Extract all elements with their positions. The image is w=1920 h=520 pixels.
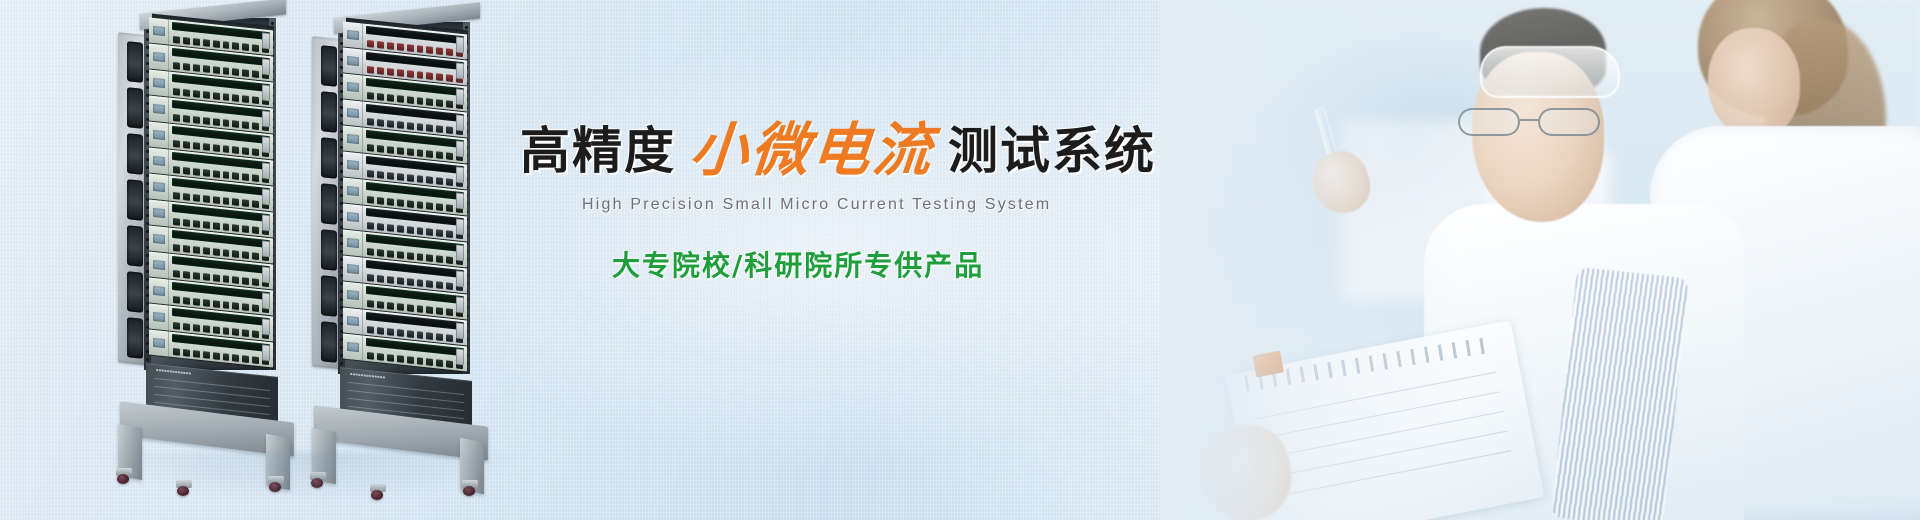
module-button — [203, 351, 210, 359]
module-button — [213, 92, 220, 100]
module-button — [367, 196, 374, 204]
module-button — [377, 67, 384, 75]
module-display — [347, 186, 359, 196]
module-button — [242, 199, 249, 207]
module-button — [377, 301, 384, 309]
module-button — [193, 194, 200, 202]
module-left-face — [149, 121, 169, 148]
module-left-face — [149, 329, 169, 356]
module-button — [387, 198, 394, 206]
module-button — [223, 353, 230, 361]
module-button — [193, 298, 200, 306]
module-display — [347, 134, 359, 144]
module-button — [232, 302, 239, 310]
module-left-face — [149, 251, 169, 278]
module-terminal — [456, 114, 464, 131]
headline-accent: 小微电流 — [687, 121, 936, 179]
module-button — [173, 88, 180, 96]
module-button — [397, 303, 404, 311]
module-terminal — [262, 344, 270, 361]
module-terminal — [262, 188, 270, 205]
module-button — [213, 222, 220, 230]
module-button — [183, 245, 190, 253]
module-button — [232, 198, 239, 206]
module-button — [367, 300, 374, 308]
module-terminal — [262, 32, 270, 49]
module-button — [367, 352, 374, 360]
module-display — [347, 238, 359, 248]
module-terminal — [262, 110, 270, 127]
module-button — [407, 96, 414, 104]
module-button — [387, 328, 394, 336]
module-display — [347, 160, 359, 170]
wheel — [371, 490, 383, 500]
module-display — [153, 234, 165, 244]
module-button — [436, 359, 443, 367]
module-button — [193, 350, 200, 358]
module-button — [183, 167, 190, 175]
rack-base — [114, 406, 304, 496]
caster-wheel — [308, 472, 328, 488]
module-button — [426, 332, 433, 340]
module-terminal — [456, 244, 464, 261]
vent-slot — [127, 317, 143, 359]
module-button — [232, 172, 239, 180]
module-button — [223, 119, 230, 127]
module-left-face — [343, 203, 363, 230]
module-display — [347, 212, 359, 222]
module-button — [203, 143, 210, 151]
module-button — [367, 248, 374, 256]
module-button — [193, 272, 200, 280]
headline-suffix: 测试系统 — [948, 126, 1156, 176]
patch-panel-label: ■■■■■■■■■■■■■ — [156, 367, 191, 376]
module-left-face — [343, 151, 363, 178]
module-button — [203, 299, 210, 307]
module-button — [397, 43, 404, 51]
module-left-face — [343, 99, 363, 126]
product-banner: LAB 测试系统 I ■■■■■■■■■■■■■ — [0, 0, 1920, 520]
module-terminal — [262, 266, 270, 283]
module-button — [252, 278, 259, 286]
headline-prefix: 高精度 — [520, 126, 676, 176]
module-display — [347, 108, 359, 118]
module-button — [242, 147, 249, 155]
module-display — [153, 130, 165, 140]
module-button — [242, 121, 249, 129]
module-button — [417, 123, 424, 131]
module-button — [436, 99, 443, 107]
module-button — [377, 223, 384, 231]
module-button — [417, 201, 424, 209]
module-button — [397, 251, 404, 259]
module-button — [232, 328, 239, 336]
module-button — [193, 90, 200, 98]
rail-hole — [146, 358, 149, 361]
module-button — [252, 96, 259, 104]
rack-base — [308, 410, 498, 500]
wheel — [177, 486, 189, 496]
module-button — [387, 68, 394, 76]
module-button — [252, 330, 259, 338]
module-terminal — [456, 218, 464, 235]
module-button — [407, 356, 414, 364]
tagline-chinese: 大专院校/科研院所专供产品 — [520, 244, 1280, 284]
glasses-bridge — [1520, 119, 1538, 121]
module-button — [232, 94, 239, 102]
module-button — [407, 174, 414, 182]
module-button — [387, 42, 394, 50]
module-button — [203, 325, 210, 333]
module-display — [153, 156, 165, 166]
module-button — [407, 70, 414, 78]
module-button — [367, 118, 374, 126]
module-button — [203, 247, 210, 255]
vent-slot — [321, 275, 337, 317]
module-terminal — [456, 348, 464, 365]
module-button — [203, 117, 210, 125]
module-button — [426, 124, 433, 132]
module-display — [347, 56, 359, 66]
module-button — [183, 271, 190, 279]
banner-copy: 高精度 小微电流 测试系统 High Precision Small Micro… — [520, 118, 1280, 284]
rail-hole — [271, 22, 274, 25]
module-left-face — [149, 225, 169, 252]
module-button — [426, 202, 433, 210]
module-button — [417, 279, 424, 287]
vent-slot — [321, 137, 337, 179]
module-terminal — [456, 88, 464, 105]
module-terminal — [456, 36, 464, 53]
module-button — [387, 146, 394, 154]
module-display — [347, 290, 359, 300]
module-button — [367, 92, 374, 100]
rail-hole — [465, 26, 468, 29]
module-button — [183, 349, 190, 357]
module-button — [367, 40, 374, 48]
module-button — [377, 327, 384, 335]
module-button — [387, 120, 394, 128]
module-button — [377, 275, 384, 283]
module-terminal — [262, 240, 270, 257]
module-button — [426, 254, 433, 262]
eyeglasses-icon — [1458, 108, 1618, 138]
module-button — [223, 223, 230, 231]
module-left-face — [149, 303, 169, 330]
module-left-face — [343, 255, 363, 282]
module-button — [242, 251, 249, 259]
module-button — [193, 142, 200, 150]
module-button — [446, 334, 453, 342]
safety-goggles-icon — [1480, 46, 1620, 98]
module-button — [173, 270, 180, 278]
vent-slot — [127, 133, 143, 175]
module-button — [252, 226, 259, 234]
module-button — [252, 356, 259, 364]
module-button — [252, 252, 259, 260]
module-display — [347, 316, 359, 326]
module-button — [377, 119, 384, 127]
module-button — [252, 200, 259, 208]
module-terminal — [456, 322, 464, 339]
module-button — [203, 273, 210, 281]
module-button — [426, 306, 433, 314]
module-button — [173, 348, 180, 356]
vent-slot — [127, 87, 143, 129]
module-left-face — [149, 17, 169, 44]
module-button — [407, 44, 414, 52]
module-button — [417, 175, 424, 183]
module-terminal — [262, 84, 270, 101]
module-button — [203, 39, 210, 47]
module-display — [153, 52, 165, 62]
module-button — [367, 326, 374, 334]
module-button — [203, 91, 210, 99]
module-button — [436, 203, 443, 211]
module-button — [223, 301, 230, 309]
module-left-face — [343, 177, 363, 204]
module-button — [446, 204, 453, 212]
caster-wheel — [460, 480, 480, 496]
module-button — [203, 195, 210, 203]
module-button — [223, 275, 230, 283]
module-button — [426, 46, 433, 54]
module-button — [446, 152, 453, 160]
module-button — [183, 219, 190, 227]
module-display — [347, 342, 359, 352]
module-button — [397, 69, 404, 77]
module-button — [203, 221, 210, 229]
headline: 高精度 小微电流 测试系统 — [520, 118, 1280, 176]
module-left-face — [343, 21, 363, 48]
module-button — [377, 197, 384, 205]
module-display — [153, 208, 165, 218]
vent-slot — [127, 225, 143, 267]
module-display — [347, 264, 359, 274]
module-left-face — [149, 199, 169, 226]
module-left-face — [149, 277, 169, 304]
module-button — [193, 64, 200, 72]
module-left-face — [343, 229, 363, 256]
module-left-face — [149, 147, 169, 174]
module-terminal — [262, 214, 270, 231]
wheel — [463, 486, 475, 496]
module-button — [213, 300, 220, 308]
module-button — [407, 252, 414, 260]
module-button — [446, 360, 453, 368]
module-button — [183, 37, 190, 45]
module-button — [407, 148, 414, 156]
module-display — [347, 82, 359, 92]
module-display — [153, 260, 165, 270]
module-button — [367, 274, 374, 282]
caster-wheel — [114, 468, 134, 484]
module-display — [153, 78, 165, 88]
module-button — [213, 144, 220, 152]
module-button — [387, 94, 394, 102]
module-button — [242, 277, 249, 285]
module-button — [242, 225, 249, 233]
module-button — [417, 305, 424, 313]
vent-slot — [127, 271, 143, 313]
module-button — [193, 324, 200, 332]
module-button — [446, 48, 453, 56]
module-button — [397, 355, 404, 363]
module-button — [173, 192, 180, 200]
module-button — [446, 230, 453, 238]
module-button — [183, 89, 190, 97]
module-button — [223, 327, 230, 335]
module-button — [232, 146, 239, 154]
module-button — [417, 357, 424, 365]
module-button — [397, 277, 404, 285]
module-display — [153, 286, 165, 296]
module-button — [387, 354, 394, 362]
module-button — [407, 330, 414, 338]
module-button — [407, 278, 414, 286]
module-terminal — [456, 166, 464, 183]
module-button — [213, 326, 220, 334]
module-button — [436, 255, 443, 263]
module-button — [397, 95, 404, 103]
module-button — [387, 224, 394, 232]
module-button — [193, 38, 200, 46]
module-button — [223, 197, 230, 205]
module-button — [407, 122, 414, 130]
module-button — [377, 171, 384, 179]
module-button — [232, 276, 239, 284]
module-terminal — [262, 292, 270, 309]
module-button — [367, 144, 374, 152]
patch-panel-label: ■■■■■■■■■■■■■ — [350, 371, 385, 380]
module-button — [242, 69, 249, 77]
module-button — [213, 118, 220, 126]
module-terminal — [262, 162, 270, 179]
module-button — [242, 329, 249, 337]
module-button — [417, 253, 424, 261]
lens-left — [1458, 108, 1520, 136]
vent-slot — [127, 41, 143, 83]
module-button — [242, 173, 249, 181]
module-button — [223, 93, 230, 101]
module-button — [436, 281, 443, 289]
module-button — [173, 140, 180, 148]
module-left-face — [343, 73, 363, 100]
module-button — [377, 93, 384, 101]
module-button — [426, 358, 433, 366]
module-display — [153, 26, 165, 36]
module-terminal — [456, 192, 464, 209]
module-button — [426, 72, 433, 80]
module-terminal — [456, 140, 464, 157]
module-button — [417, 45, 424, 53]
module-button — [252, 122, 259, 130]
wheel — [311, 478, 323, 488]
module-left-face — [149, 173, 169, 200]
module-button — [232, 42, 239, 50]
module-button — [387, 302, 394, 310]
module-button — [232, 354, 239, 362]
caster-wheel — [266, 476, 286, 492]
module-button — [397, 329, 404, 337]
caster-wheel — [368, 484, 388, 500]
module-left-face — [149, 43, 169, 70]
module-button — [377, 249, 384, 257]
module-button — [426, 176, 433, 184]
vent-slot — [321, 91, 337, 133]
module-button — [436, 229, 443, 237]
module-button — [426, 280, 433, 288]
module-button — [173, 114, 180, 122]
caster-wheel — [174, 480, 194, 496]
module-button — [223, 249, 230, 257]
module-display — [153, 104, 165, 114]
module-left-face — [343, 333, 363, 360]
module-button — [397, 199, 404, 207]
module-button — [242, 95, 249, 103]
module-button — [183, 63, 190, 71]
module-button — [397, 173, 404, 181]
module-button — [377, 353, 384, 361]
module-button — [387, 250, 394, 258]
module-button — [252, 174, 259, 182]
module-button — [397, 147, 404, 155]
cable-track — [348, 382, 464, 395]
module-button — [426, 150, 433, 158]
vent-slot — [321, 229, 337, 271]
module-button — [252, 304, 259, 312]
module-button — [446, 178, 453, 186]
module-terminal — [456, 62, 464, 79]
module-button — [203, 169, 210, 177]
module-terminal — [262, 58, 270, 75]
module-button — [446, 126, 453, 134]
module-left-face — [149, 69, 169, 96]
module-button — [397, 121, 404, 129]
module-button — [387, 172, 394, 180]
module-button — [436, 125, 443, 133]
module-terminal — [262, 136, 270, 153]
vent-slot — [321, 183, 337, 225]
rail-hole — [340, 362, 343, 365]
module-button — [426, 228, 433, 236]
module-button — [183, 297, 190, 305]
module-button — [367, 170, 374, 178]
module-button — [193, 116, 200, 124]
module-button — [436, 151, 443, 159]
module-button — [417, 71, 424, 79]
module-button — [183, 193, 190, 201]
module-left-face — [343, 47, 363, 74]
module-display — [153, 338, 165, 348]
module-left-face — [343, 307, 363, 334]
module-button — [232, 250, 239, 258]
module-button — [183, 141, 190, 149]
module-button — [223, 145, 230, 153]
module-button — [193, 220, 200, 228]
module-button — [173, 166, 180, 174]
module-button — [173, 322, 180, 330]
module-button — [223, 171, 230, 179]
wheel — [269, 482, 281, 492]
module-button — [242, 303, 249, 311]
module-button — [252, 148, 259, 156]
module-button — [407, 304, 414, 312]
equipment-racks: LAB 测试系统 I ■■■■■■■■■■■■■ — [0, 0, 520, 520]
module-button — [436, 333, 443, 341]
module-button — [377, 145, 384, 153]
module-button — [436, 177, 443, 185]
